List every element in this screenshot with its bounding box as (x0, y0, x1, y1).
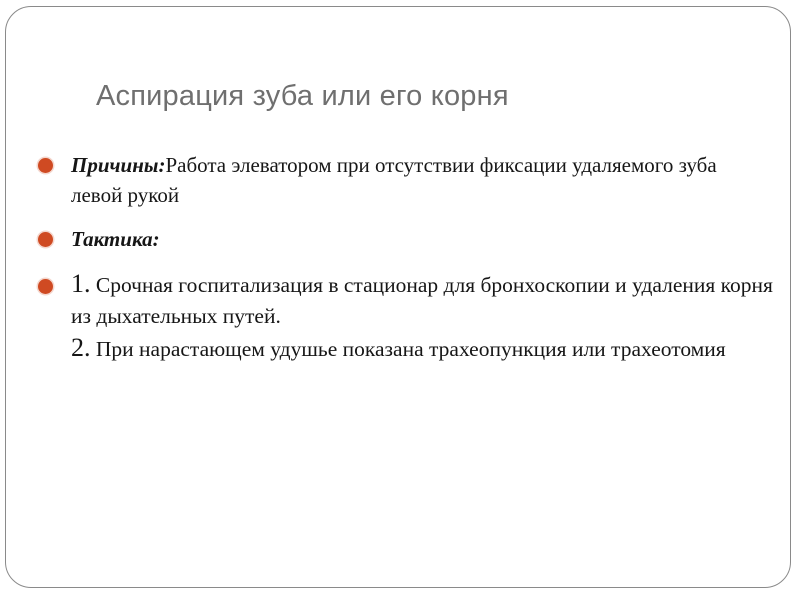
ordered-number-2: 2. (71, 333, 91, 362)
ordered-text-1: Срочная госпитализация в стационар для б… (71, 273, 773, 328)
slide-body: Причины:Работа элеватором при отсутствии… (33, 150, 773, 371)
ordered-number-1: 1. (71, 269, 91, 298)
page-title: Аспирация зуба или его корня (96, 78, 736, 114)
bullet-dot-icon (38, 158, 53, 173)
bullet-content: Тактика: (71, 227, 160, 251)
bullet-lead-label: Причины: (71, 153, 165, 177)
bullet-lead-label: Тактика: (71, 227, 160, 251)
presentation-slide: Аспирация зуба или его корня Причины:Раб… (0, 0, 800, 600)
bullet-content: Причины:Работа элеватором при отсутствии… (71, 153, 717, 207)
spacer (33, 216, 773, 224)
list-item: 1. Срочная госпитализация в стационар дл… (33, 268, 773, 365)
spacer (33, 260, 773, 268)
list-item: Тактика: (33, 224, 773, 254)
list-item: Причины:Работа элеватором при отсутствии… (33, 150, 773, 210)
bullet-dot-icon (38, 232, 53, 247)
bullet-content: 1. Срочная госпитализация в стационар дл… (71, 273, 773, 361)
bullet-body-text: Работа элеватором при отсутствии фиксаци… (71, 153, 717, 207)
ordered-text-2: При нарастающем удушье показана трахеопу… (91, 337, 726, 361)
bullet-dot-icon (38, 279, 53, 294)
